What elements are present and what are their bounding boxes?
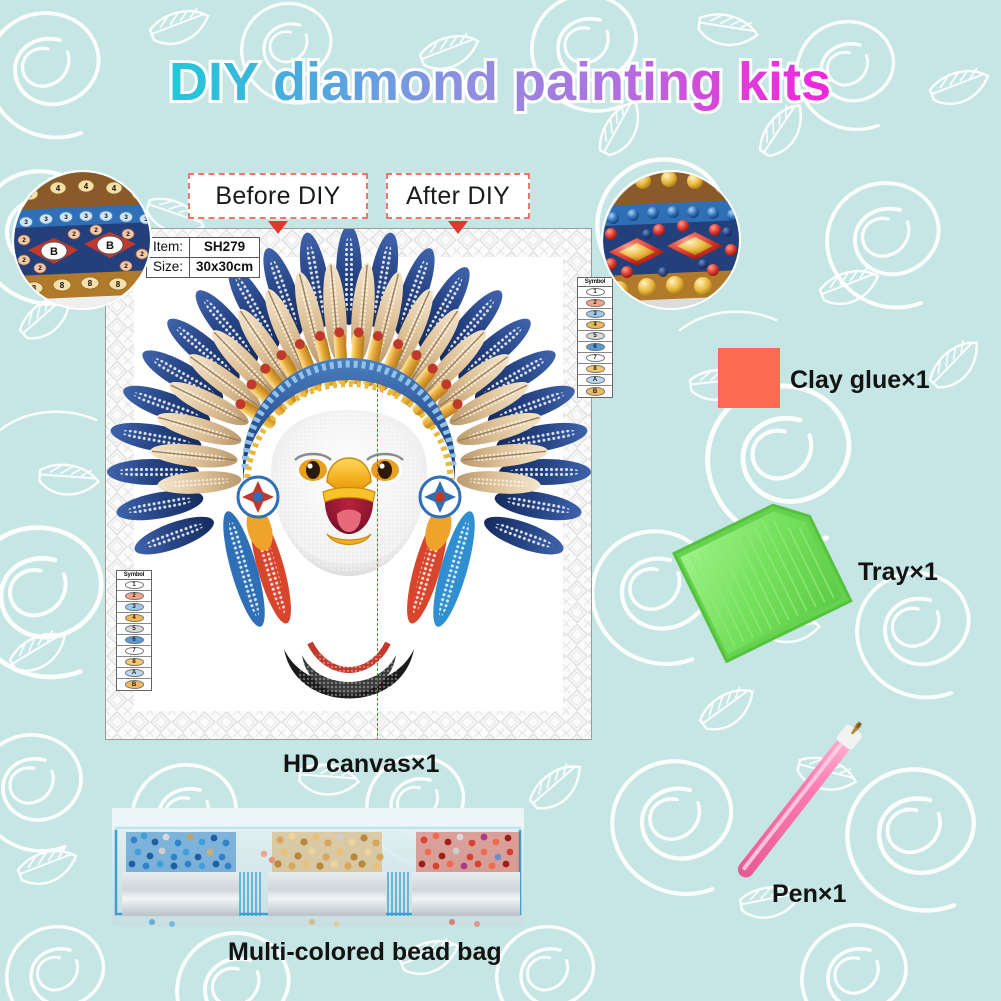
svg-text:2: 2: [124, 263, 128, 270]
clay-glue-square: [718, 348, 780, 408]
legend-symbol: 8: [586, 365, 605, 374]
svg-text:2: 2: [140, 251, 144, 258]
clay-glue-label: Clay glue×1: [790, 366, 930, 395]
legend-symbol: A: [125, 669, 144, 678]
legend-row: 3: [117, 602, 151, 613]
legend-symbol: 4: [586, 321, 605, 330]
item-value: SH279: [190, 238, 260, 258]
svg-text:2: 2: [22, 237, 26, 244]
bead-bags: [112, 802, 524, 934]
legend-header: Symbol: [117, 571, 151, 580]
svg-text:2: 2: [72, 231, 76, 238]
item-spec-table: Item: SH279 Size: 30x30cm: [146, 237, 260, 278]
callout-after-label: After DIY: [406, 182, 510, 211]
legend-symbol: 3: [125, 603, 144, 612]
table-row: Size: 30x30cm: [147, 257, 260, 277]
legend-symbol: B: [586, 387, 605, 396]
eagle-artwork: [106, 229, 592, 740]
svg-text:3: 3: [64, 214, 68, 221]
callout-after-diy: After DIY: [386, 173, 530, 219]
legend-row: A: [117, 668, 151, 679]
legend-symbol: B: [125, 680, 144, 689]
before-after-split-line: [377, 379, 378, 740]
legend-symbol: 8: [125, 658, 144, 667]
symbol-legend-left: Symbol 12345678AB: [116, 570, 152, 691]
legend-row: B: [117, 679, 151, 690]
legend-symbol: 7: [586, 354, 605, 363]
hd-canvas-panel: [105, 228, 592, 740]
svg-text:3: 3: [84, 213, 88, 220]
legend-rows: 12345678AB: [117, 580, 151, 690]
before-diy-closeup-inset: B B 844 48 888 88: [12, 170, 152, 310]
svg-text:8: 8: [88, 279, 93, 288]
svg-text:3: 3: [44, 216, 48, 223]
legend-symbol: 2: [586, 299, 605, 308]
legend-row: 6: [578, 342, 612, 353]
page-title: DIY diamond painting kits: [0, 48, 1001, 116]
page-title-text: DIY diamond painting kits: [169, 52, 831, 112]
pen-label: Pen×1: [772, 880, 846, 909]
tray-shape: [655, 484, 885, 674]
svg-text:8: 8: [116, 280, 121, 289]
legend-symbol: 6: [586, 343, 605, 352]
size-label: Size:: [147, 257, 190, 277]
eagle-head: [271, 410, 427, 576]
legend-row: 3: [578, 309, 612, 320]
bead-bag-blue: [122, 832, 240, 916]
bead-bag-gold: [261, 832, 386, 916]
legend-row: 8: [117, 657, 151, 668]
arrow-down-icon-after: [448, 221, 468, 234]
bead-bag-label: Multi-colored bead bag: [228, 938, 502, 967]
legend-symbol: 7: [125, 647, 144, 656]
svg-text:8: 8: [138, 190, 143, 199]
legend-symbol: 1: [586, 288, 605, 297]
svg-text:3: 3: [104, 213, 108, 220]
legend-row: 6: [117, 635, 151, 646]
side-rosette-left: [238, 477, 278, 517]
symbol-legend-right: Symbol 12345678AB: [577, 277, 613, 398]
legend-row: 2: [117, 591, 151, 602]
svg-text:B: B: [106, 240, 114, 252]
hd-canvas-label: HD canvas×1: [283, 750, 439, 779]
svg-text:8: 8: [28, 190, 33, 199]
legend-row: 1: [578, 287, 612, 298]
svg-text:2: 2: [126, 231, 130, 238]
svg-text:8: 8: [32, 284, 37, 293]
svg-text:4: 4: [56, 184, 61, 193]
tray-label: Tray×1: [858, 558, 938, 587]
svg-text:4: 4: [112, 184, 117, 193]
legend-row: 5: [578, 331, 612, 342]
legend-symbol: 5: [125, 625, 144, 634]
legend-row: 2: [578, 298, 612, 309]
svg-text:2: 2: [22, 257, 26, 264]
side-rosette-right: [420, 477, 460, 517]
svg-text:4: 4: [84, 182, 89, 191]
legend-symbol: 5: [586, 332, 605, 341]
svg-text:2: 2: [38, 265, 42, 272]
legend-rows: 12345678AB: [578, 287, 612, 397]
legend-symbol: A: [586, 376, 605, 385]
svg-text:3: 3: [24, 219, 28, 226]
neck-feathers: [284, 643, 414, 701]
legend-row: 7: [578, 353, 612, 364]
legend-header: Symbol: [578, 278, 612, 287]
legend-row: B: [578, 386, 612, 397]
legend-row: 4: [578, 320, 612, 331]
svg-text:3: 3: [144, 216, 148, 223]
legend-symbol: 3: [586, 310, 605, 319]
arrow-down-icon-before: [268, 221, 288, 234]
after-diy-closeup-inset: [601, 170, 741, 310]
legend-row: A: [578, 375, 612, 386]
legend-symbol: 1: [125, 581, 144, 590]
svg-text:8: 8: [60, 281, 65, 290]
item-label: Item:: [147, 238, 190, 258]
size-value: 30x30cm: [190, 257, 260, 277]
legend-symbol: 4: [125, 614, 144, 623]
callout-before-label: Before DIY: [215, 182, 340, 211]
legend-symbol: 6: [125, 636, 144, 645]
legend-row: 4: [117, 613, 151, 624]
legend-row: 5: [117, 624, 151, 635]
legend-row: 8: [578, 364, 612, 375]
svg-text:2: 2: [94, 227, 98, 234]
legend-row: 7: [117, 646, 151, 657]
legend-symbol: 2: [125, 592, 144, 601]
svg-text:3: 3: [124, 214, 128, 221]
table-row: Item: SH279: [147, 238, 260, 258]
callout-before-diy: Before DIY: [188, 173, 368, 219]
legend-row: 1: [117, 580, 151, 591]
svg-text:B: B: [50, 246, 58, 258]
bead-bag-red: [412, 832, 520, 916]
